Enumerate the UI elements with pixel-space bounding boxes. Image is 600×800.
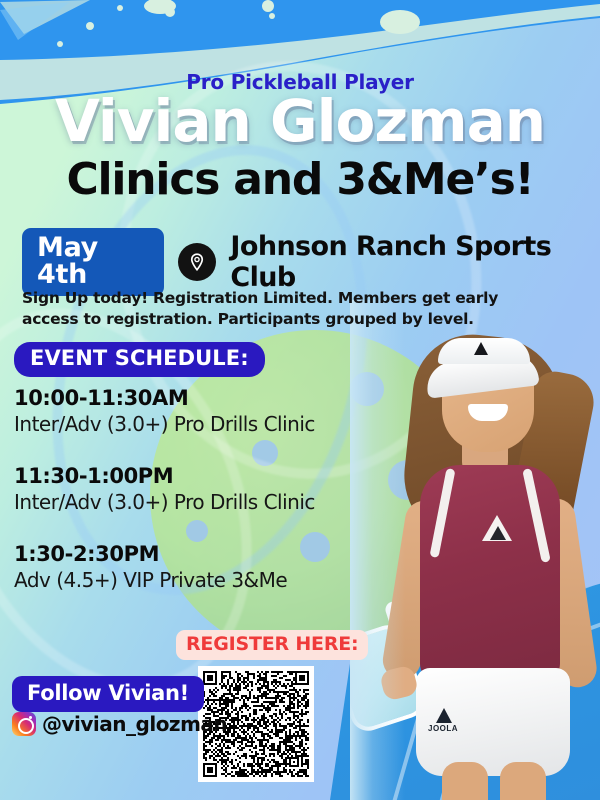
schedule-item-description: Adv (4.5+) VIP Private 3&Me	[14, 567, 414, 593]
venue-name: Johnson Ranch Sports Club	[230, 231, 600, 293]
registration-blurb: Sign Up today! Registration Limited. Mem…	[22, 288, 552, 330]
instagram-handle-row[interactable]: @vivian_glozman	[12, 712, 227, 736]
follow-vivian-badge[interactable]: Follow Vivian!	[12, 676, 204, 712]
schedule-item-description: Inter/Adv (3.0+) Pro Drills Clinic	[14, 411, 414, 437]
schedule-item-description: Inter/Adv (3.0+) Pro Drills Clinic	[14, 489, 414, 515]
schedule-item-time: 11:30-1:00PM	[14, 463, 414, 489]
poster-subtitle: Clinics and 3&Me’s!	[0, 155, 600, 205]
event-meta-row: May 4th Johnson Ranch Sports Club	[22, 228, 600, 296]
poster-canvas: JOOLA Pro Pickleball Player Vivian Glozm…	[0, 0, 600, 800]
schedule-item-time: 1:30-2:30PM	[14, 541, 414, 567]
instagram-handle: @vivian_glozman	[42, 712, 227, 736]
instagram-icon[interactable]	[12, 712, 36, 736]
location-pin-icon	[178, 243, 216, 281]
event-schedule-list: 10:00-11:30AM Inter/Adv (3.0+) Pro Drill…	[14, 372, 414, 593]
page-title: Vivian Glozman	[0, 90, 600, 152]
date-badge: May 4th	[22, 228, 164, 296]
schedule-item-time: 10:00-11:30AM	[14, 385, 414, 411]
register-here-label: REGISTER HERE:	[176, 630, 368, 660]
schedule-item: 11:30-1:00PM Inter/Adv (3.0+) Pro Drills…	[14, 463, 414, 515]
schedule-item: 1:30-2:30PM Adv (4.5+) VIP Private 3&Me	[14, 541, 414, 593]
poster-content: Pro Pickleball Player Vivian Glozman Cli…	[0, 0, 600, 800]
schedule-item: 10:00-11:30AM Inter/Adv (3.0+) Pro Drill…	[14, 385, 414, 437]
